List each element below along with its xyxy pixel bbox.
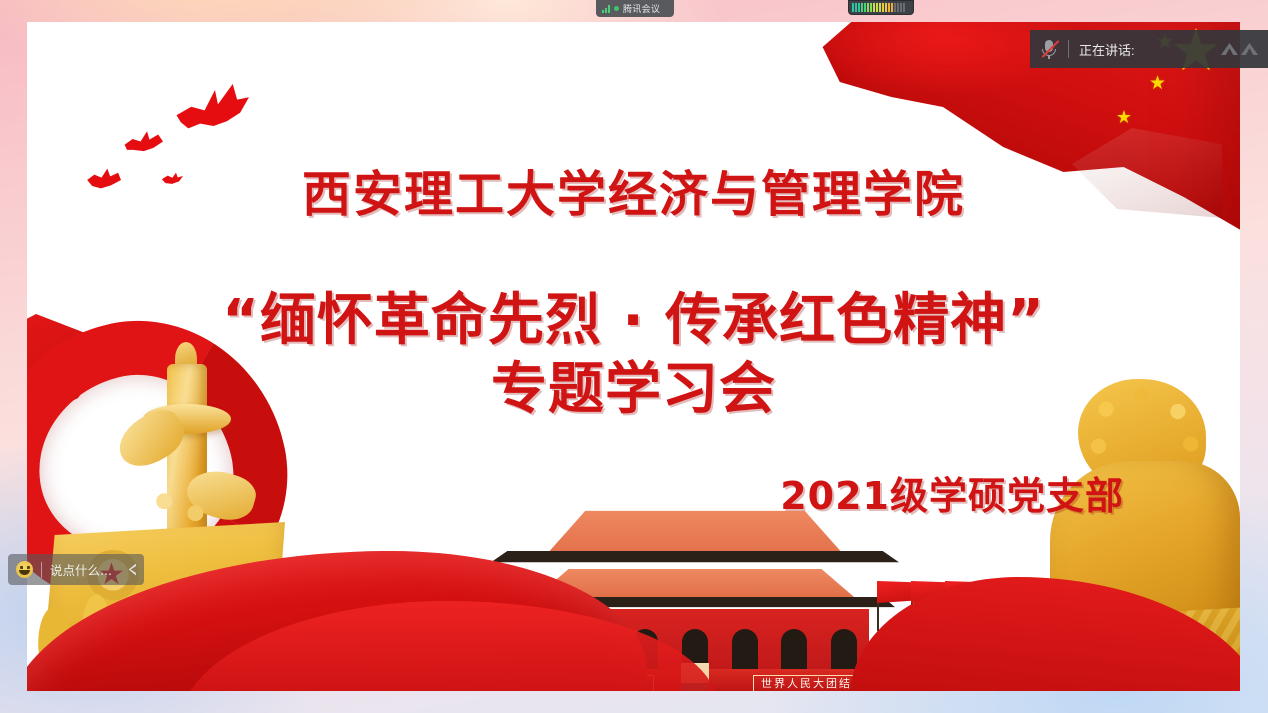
audio-level-meter (848, 0, 914, 15)
audio-meter-segment (894, 3, 896, 12)
gate-upper-eave (491, 551, 899, 567)
chevron-up-icon[interactable] (1221, 43, 1258, 55)
audio-meter-segment (858, 3, 860, 12)
chat-input-bar[interactable]: 说点什么... (8, 554, 144, 585)
audio-meter-segment (882, 3, 884, 12)
audio-meter-segment (867, 3, 869, 12)
slide-event-type-title: 专题学习会 (27, 344, 1240, 425)
audio-meter-segment (864, 3, 866, 12)
audio-meter-segment (897, 3, 899, 12)
gate-arch (781, 629, 807, 671)
divider (1068, 40, 1069, 58)
audio-meter-segment (903, 3, 905, 12)
audio-meter-segment (888, 3, 890, 12)
meeting-app-label: 腾讯会议 (623, 2, 660, 15)
audio-meter-segment (885, 3, 887, 12)
dove-icon-1 (175, 84, 249, 144)
chevron-left-icon[interactable] (128, 564, 136, 576)
speaking-status-bar[interactable]: 正在讲话: (1030, 30, 1268, 68)
audio-meter-segment (876, 3, 878, 12)
audio-meter-segment (879, 3, 881, 12)
audio-meter-segment (873, 3, 875, 12)
shared-slide: ★ ★ ★ ★ ★ ★ (27, 22, 1240, 691)
audio-meter-segment (900, 3, 902, 12)
audio-meter-segment (891, 3, 893, 12)
divider (41, 562, 42, 578)
audio-meter-segment (861, 3, 863, 12)
chat-input-placeholder[interactable]: 说点什么... (50, 560, 112, 579)
tencent-meeting-pill[interactable]: 腾讯会议 (596, 0, 674, 17)
audio-meter-segment (870, 3, 872, 12)
gate-arch (831, 629, 857, 671)
audio-meter-segment (852, 3, 854, 12)
gate-arch (732, 629, 758, 671)
slide-branch-subtitle: 2021级学硕党支部 (27, 465, 1240, 520)
emoji-smiley-icon[interactable] (16, 561, 33, 578)
signal-bars-icon (602, 5, 610, 13)
microphone-muted-icon[interactable] (1040, 39, 1058, 59)
flag-star-small-4: ★ (1116, 108, 1132, 126)
audio-meter-segment (855, 3, 857, 12)
speaking-label: 正在讲话: (1079, 40, 1135, 59)
flag-star-small-3: ★ (1149, 74, 1166, 93)
green-status-dot-icon (614, 6, 619, 11)
slide-organization-title: 西安理工大学经济与管理学院 (27, 155, 1240, 226)
